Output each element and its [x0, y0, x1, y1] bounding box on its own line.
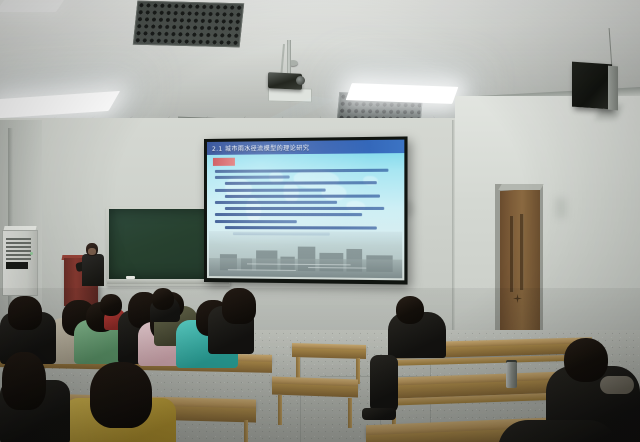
slide-cityscape-photo [209, 231, 402, 278]
student-head [564, 338, 608, 382]
student-torso [498, 420, 618, 442]
air-conditioner-led-icon [30, 252, 33, 255]
student-hair [2, 352, 46, 410]
projection-screen-surface: 2.1 城市雨水径流模型的理论研究 [207, 140, 404, 281]
student-hair [222, 288, 256, 324]
right-wall [455, 96, 640, 364]
door-header-trim [498, 184, 543, 190]
student-collar [600, 376, 634, 394]
chalk-stick [126, 276, 135, 279]
student-shoe [362, 408, 396, 420]
student-legs [370, 355, 398, 413]
fluorescent-panel-corner [0, 0, 64, 12]
student-hair [8, 296, 42, 330]
student-head [152, 288, 174, 310]
air-return-vent-left [133, 1, 244, 48]
student-head [396, 296, 424, 324]
student-head [100, 294, 122, 316]
slide-title-bar: 2.1 城市雨水径流模型的理论研究 [207, 140, 404, 155]
door-panel-groove-2 [520, 214, 524, 290]
wall-mounted-speaker [572, 62, 612, 110]
presenter-body [82, 254, 104, 286]
slide-body-text [215, 169, 396, 239]
projector-lens-icon [296, 76, 305, 85]
slide-red-highlight-tag [213, 158, 235, 166]
presenter-face [88, 248, 96, 255]
lecture-hall-photo: 2.1 城市雨水径流模型的理论研究 [0, 0, 640, 442]
speaker-bracket [608, 66, 618, 111]
wall-mark-2 [556, 198, 566, 218]
thermos-flask-on-desk [506, 362, 517, 388]
air-conditioner-display-panel[interactable] [6, 262, 28, 269]
slide-title: 2.1 城市雨水径流模型的理论研究 [207, 143, 309, 153]
student-hair [90, 362, 152, 428]
wall-corner-line [452, 120, 455, 350]
door-panel-groove-1 [510, 216, 514, 292]
projector-ceiling-plate [268, 87, 312, 102]
projection-screen-frame: 2.1 城市雨水径流模型的理论研究 [204, 136, 408, 284]
